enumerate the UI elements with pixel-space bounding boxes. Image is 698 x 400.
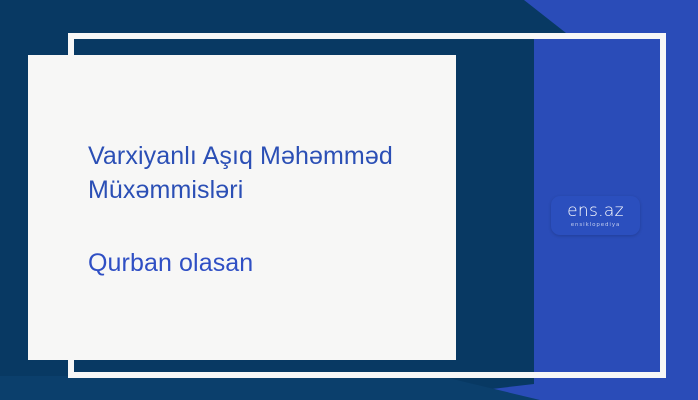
article-title: Varxiyanlı Aşıq Məhəmməd Müxəmmisləri [88, 139, 436, 207]
cover-image: Varxiyanlı Aşıq Məhəmməd Müxəmmisləri Qu… [0, 0, 698, 400]
content-card-text: Varxiyanlı Aşıq Məhəmməd Müxəmmisləri Qu… [88, 139, 436, 279]
logo-tagline: ensiklopediya [571, 221, 621, 229]
article-subtitle: Qurban olasan [88, 247, 436, 279]
content-card: Varxiyanlı Aşıq Məhəmməd Müxəmmisləri Qu… [28, 55, 456, 360]
ens-az-logo-badge[interactable]: ens.az ensiklopediya [551, 196, 640, 235]
logo-wordmark: ens.az [567, 203, 624, 220]
